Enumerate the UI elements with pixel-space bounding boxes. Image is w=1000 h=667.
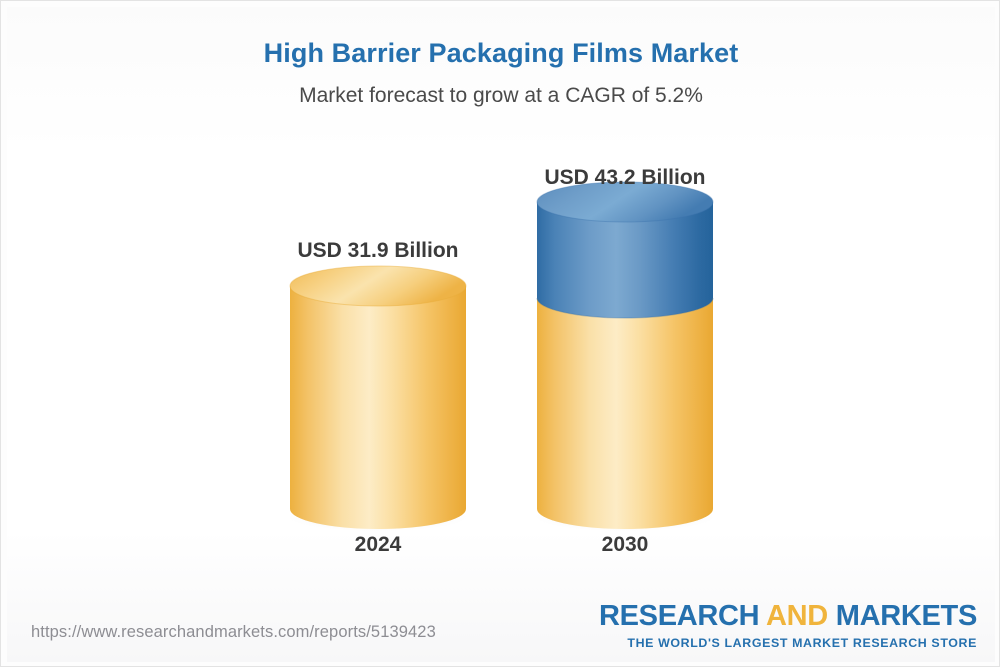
category-label-2024: 2024 bbox=[278, 533, 478, 557]
bar-value-label-2024: USD 31.9 Billion bbox=[278, 239, 478, 263]
infographic-canvas: High Barrier Packaging Films Market Mark… bbox=[0, 0, 1000, 667]
logo-word-research: RESEARCH bbox=[599, 600, 766, 632]
bar-body-yellow bbox=[537, 298, 713, 529]
logo-wordmark: RESEARCH AND MARKETS bbox=[599, 602, 977, 631]
report-url[interactable]: https://www.researchandmarkets.com/repor… bbox=[31, 623, 436, 642]
logo-word-and: AND bbox=[766, 600, 828, 632]
bar-cylinder-2024 bbox=[283, 266, 473, 532]
bar-value-label-2030: USD 43.2 Billion bbox=[525, 166, 725, 190]
bar-body-yellow bbox=[290, 286, 466, 529]
bar-cylinder-2030 bbox=[530, 182, 720, 532]
logo-word-markets: MARKETS bbox=[828, 600, 977, 632]
bar-chart-plot bbox=[1, 1, 1000, 667]
research-and-markets-logo[interactable]: RESEARCH AND MARKETS THE WORLD'S LARGEST… bbox=[599, 602, 977, 649]
logo-tagline: THE WORLD'S LARGEST MARKET RESEARCH STOR… bbox=[599, 637, 977, 649]
category-label-2030: 2030 bbox=[525, 533, 725, 557]
